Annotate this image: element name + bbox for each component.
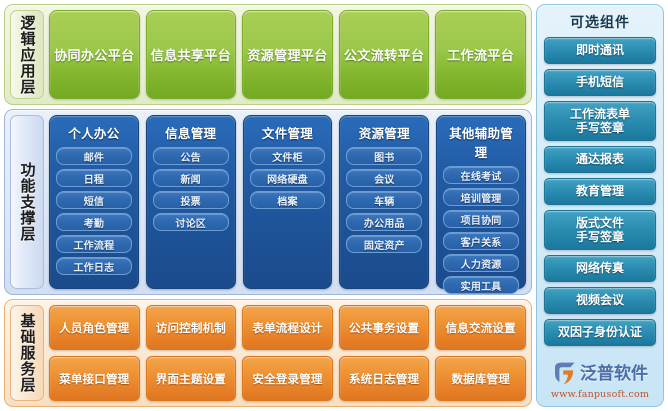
base-service-menu-interface-management[interactable]: 菜单接口管理 bbox=[49, 356, 140, 401]
optional-component-video-conference[interactable]: 视频会议 bbox=[544, 287, 656, 314]
layer-stack: 逻辑应用层 协同办公平台 信息共享平台 资源管理平台 公文流转平台 工作流平台 … bbox=[4, 4, 532, 407]
watermark-row: 泛普软件 bbox=[552, 361, 648, 387]
module-column-title: 文件管理 bbox=[250, 123, 326, 142]
module-item-books[interactable]: 图书 bbox=[346, 147, 422, 165]
optional-component-layout-file-handwritten-signature[interactable]: 版式文件手写签章 bbox=[544, 210, 656, 250]
module-item-utility-tools[interactable]: 实用工具 bbox=[443, 276, 519, 294]
module-item-meeting[interactable]: 会议 bbox=[346, 169, 422, 187]
base-service-form-process-design[interactable]: 表单流程设计 bbox=[242, 305, 333, 350]
base-service-body: 人员角色管理 访问控制机制 表单流程设计 公共事务设置 信息交流设置 菜单接口管… bbox=[49, 305, 526, 401]
layer-label-base-service: 基础服务层 bbox=[10, 305, 44, 401]
module-column-title: 信息管理 bbox=[153, 123, 229, 142]
optional-component-mobile-sms[interactable]: 手机短信 bbox=[544, 69, 656, 96]
base-service-personnel-role-management[interactable]: 人员角色管理 bbox=[49, 305, 140, 350]
module-item-human-resources[interactable]: 人力资源 bbox=[443, 254, 519, 272]
module-item-workflow-process[interactable]: 工作流程 bbox=[56, 235, 132, 253]
logic-application-body: 协同办公平台 信息共享平台 资源管理平台 公文流转平台 工作流平台 bbox=[49, 10, 526, 99]
platform-tile-document-circulation[interactable]: 公文流转平台 bbox=[339, 10, 430, 99]
module-item-schedule[interactable]: 日程 bbox=[56, 169, 132, 187]
watermark-url: www.fanpusoft.com bbox=[551, 389, 649, 400]
module-column-title: 个人办公 bbox=[56, 123, 132, 142]
base-service-system-log-management[interactable]: 系统日志管理 bbox=[339, 356, 430, 401]
module-item-customer-relations[interactable]: 客户关系 bbox=[443, 232, 519, 250]
base-service-grid: 人员角色管理 访问控制机制 表单流程设计 公共事务设置 信息交流设置 菜单接口管… bbox=[49, 305, 526, 401]
module-item-vote[interactable]: 投票 bbox=[153, 191, 229, 209]
base-service-database-management[interactable]: 数据库管理 bbox=[435, 356, 526, 401]
platform-tile-workflow[interactable]: 工作流平台 bbox=[435, 10, 526, 99]
optional-components-title: 可选组件 bbox=[544, 12, 656, 32]
module-item-online-exam[interactable]: 在线考试 bbox=[443, 166, 519, 184]
module-column-title: 其他辅助管理 bbox=[443, 123, 519, 161]
base-service-info-exchange-settings[interactable]: 信息交流设置 bbox=[435, 305, 526, 350]
layer-label-text: 基础服务层 bbox=[20, 313, 35, 393]
module-item-office-supplies[interactable]: 办公用品 bbox=[346, 213, 422, 231]
module-item-attendance[interactable]: 考勤 bbox=[56, 213, 132, 231]
module-item-list: 邮件 日程 短信 考勤 工作流程 工作日志 bbox=[56, 147, 132, 275]
module-item-network-disk[interactable]: 网络硬盘 bbox=[250, 169, 326, 187]
module-column-row: 个人办公 邮件 日程 短信 考勤 工作流程 工作日志 信息管理 bbox=[49, 115, 526, 289]
layer-logic-application: 逻辑应用层 协同办公平台 信息共享平台 资源管理平台 公文流转平台 工作流平台 bbox=[4, 4, 532, 105]
module-column-information-management: 信息管理 公告 新闻 投票 讨论区 bbox=[146, 115, 236, 289]
layer-label-function-support: 功能支撑层 bbox=[10, 115, 44, 289]
fanpu-logo-icon bbox=[552, 361, 578, 387]
optional-component-two-factor-authentication[interactable]: 双因子身份认证 bbox=[544, 319, 656, 346]
base-service-secure-login-management[interactable]: 安全登录管理 bbox=[242, 356, 333, 401]
module-column-title: 资源管理 bbox=[346, 123, 422, 142]
watermark-brand: 泛普软件 bbox=[580, 366, 648, 383]
platform-tile-info-sharing[interactable]: 信息共享平台 bbox=[146, 10, 237, 99]
layer-label-text: 逻辑应用层 bbox=[20, 15, 35, 95]
module-item-sms[interactable]: 短信 bbox=[56, 191, 132, 209]
optional-components-panel: 可选组件 即时通讯 手机短信 工作流表单手写签章 通达报表 教育管理 版式文件手… bbox=[536, 4, 664, 407]
module-column-personal-office: 个人办公 邮件 日程 短信 考勤 工作流程 工作日志 bbox=[49, 115, 139, 289]
optional-components-list: 即时通讯 手机短信 工作流表单手写签章 通达报表 教育管理 版式文件手写签章 网… bbox=[544, 37, 656, 346]
base-service-access-control-mechanism[interactable]: 访问控制机制 bbox=[146, 305, 237, 350]
module-item-project-collaboration[interactable]: 项目协同 bbox=[443, 210, 519, 228]
module-item-work-log[interactable]: 工作日志 bbox=[56, 257, 132, 275]
platform-tile-row: 协同办公平台 信息共享平台 资源管理平台 公文流转平台 工作流平台 bbox=[49, 10, 526, 99]
module-item-announcement[interactable]: 公告 bbox=[153, 147, 229, 165]
platform-tile-resource-management[interactable]: 资源管理平台 bbox=[242, 10, 333, 99]
module-item-file-cabinet[interactable]: 文件柜 bbox=[250, 147, 326, 165]
layer-label-logic-application: 逻辑应用层 bbox=[10, 10, 44, 99]
module-item-vehicle[interactable]: 车辆 bbox=[346, 191, 422, 209]
layer-function-support: 功能支撑层 个人办公 邮件 日程 短信 考勤 工作流程 工作日志 bbox=[4, 109, 532, 295]
base-service-public-affairs-settings[interactable]: 公共事务设置 bbox=[339, 305, 430, 350]
module-column-other-auxiliary-management: 其他辅助管理 在线考试 培训管理 项目协同 客户关系 人力资源 实用工具 bbox=[436, 115, 526, 289]
optional-component-instant-messaging[interactable]: 即时通讯 bbox=[544, 37, 656, 64]
module-item-list: 文件柜 网络硬盘 档案 bbox=[250, 147, 326, 209]
module-item-training-management[interactable]: 培训管理 bbox=[443, 188, 519, 206]
module-item-archive[interactable]: 档案 bbox=[250, 191, 326, 209]
module-item-forum[interactable]: 讨论区 bbox=[153, 213, 229, 231]
module-item-mail[interactable]: 邮件 bbox=[56, 147, 132, 165]
optional-component-education-management[interactable]: 教育管理 bbox=[544, 178, 656, 205]
module-item-list: 公告 新闻 投票 讨论区 bbox=[153, 147, 229, 231]
module-column-file-management: 文件管理 文件柜 网络硬盘 档案 bbox=[243, 115, 333, 289]
architecture-diagram: 逻辑应用层 协同办公平台 信息共享平台 资源管理平台 公文流转平台 工作流平台 … bbox=[0, 0, 668, 411]
module-item-news[interactable]: 新闻 bbox=[153, 169, 229, 187]
module-item-list: 在线考试 培训管理 项目协同 客户关系 人力资源 实用工具 bbox=[443, 166, 519, 294]
optional-component-workflow-form-handwritten-signature[interactable]: 工作流表单手写签章 bbox=[544, 101, 656, 141]
module-item-fixed-assets[interactable]: 固定资产 bbox=[346, 235, 422, 253]
function-support-body: 个人办公 邮件 日程 短信 考勤 工作流程 工作日志 信息管理 bbox=[49, 115, 526, 289]
layer-base-service: 基础服务层 人员角色管理 访问控制机制 表单流程设计 公共事务设置 信息交流设置… bbox=[4, 299, 532, 407]
module-column-resource-management: 资源管理 图书 会议 车辆 办公用品 固定资产 bbox=[339, 115, 429, 289]
optional-component-tongda-report[interactable]: 通达报表 bbox=[544, 146, 656, 173]
layer-label-text: 功能支撑层 bbox=[20, 162, 35, 242]
module-item-list: 图书 会议 车辆 办公用品 固定资产 bbox=[346, 147, 422, 253]
platform-tile-collaborative-office[interactable]: 协同办公平台 bbox=[49, 10, 140, 99]
base-service-ui-theme-settings[interactable]: 界面主题设置 bbox=[146, 356, 237, 401]
optional-component-network-fax[interactable]: 网络传真 bbox=[544, 255, 656, 282]
watermark: 泛普软件 www.fanpusoft.com bbox=[544, 361, 656, 402]
